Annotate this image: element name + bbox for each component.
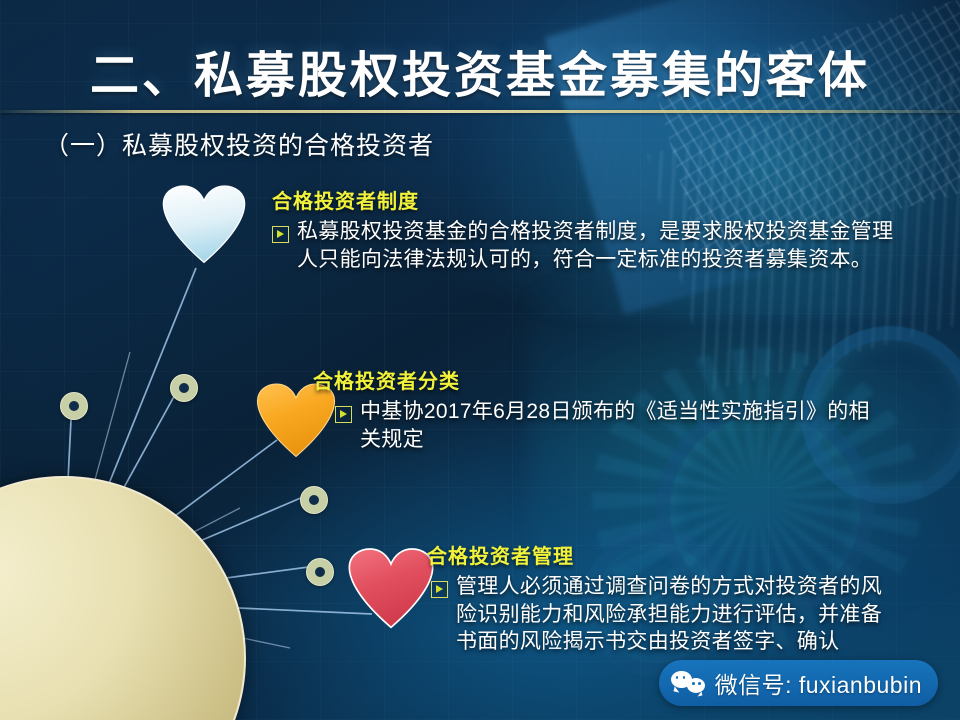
content-block-qualified-investor-classification: 合格投资者分类 中基协2017年6月28日颁布的《适当性实施指引》的相 关规定: [313, 365, 870, 453]
connector-node: [60, 392, 88, 420]
block-heading: 合格投资者管理: [427, 540, 882, 569]
heart-icon-qualified-investor-system: [163, 186, 245, 264]
page-subtitle: （一）私募股权投资的合格投资者: [44, 126, 434, 162]
wechat-id-text: 微信号: fuxianbubin: [715, 666, 922, 700]
bullet-play-icon: [272, 226, 289, 243]
wechat-icon: [671, 670, 705, 696]
page-title: 二、私募股权投资基金募集的客体: [0, 36, 960, 107]
block-text: 中基协2017年6月28日颁布的《适当性实施指引》的相 关规定: [360, 398, 870, 453]
block-heading: 合格投资者分类: [313, 365, 870, 394]
heart-icon-qualified-investor-management: [349, 549, 433, 629]
connector-node: [306, 558, 334, 586]
block-heading: 合格投资者制度: [272, 185, 893, 214]
content-block-qualified-investor-system: 合格投资者制度 私募股权投资基金的合格投资者制度，是要求股权投资基金管理 人只能…: [272, 185, 893, 273]
connector-node: [300, 486, 328, 514]
content-block-qualified-investor-management: 合格投资者管理 管理人必须通过调查问卷的方式对投资者的风 险识别能力和风险承担能…: [427, 540, 882, 656]
bullet-play-icon: [335, 406, 352, 423]
title-divider: [0, 110, 960, 113]
slide-canvas: 二、私募股权投资基金募集的客体 （一）私募股权投资的合格投资者 私募股权投资基金…: [0, 0, 960, 720]
bullet-play-icon: [431, 581, 448, 598]
wechat-watermark: 微信号: fuxianbubin: [659, 660, 938, 706]
block-text: 管理人必须通过调查问卷的方式对投资者的风 险识别能力和风险承担能力进行评估，并准…: [456, 573, 882, 656]
connector-node: [170, 374, 198, 402]
block-text: 私募股权投资基金的合格投资者制度，是要求股权投资基金管理 人只能向法律法规认可的…: [297, 218, 893, 273]
